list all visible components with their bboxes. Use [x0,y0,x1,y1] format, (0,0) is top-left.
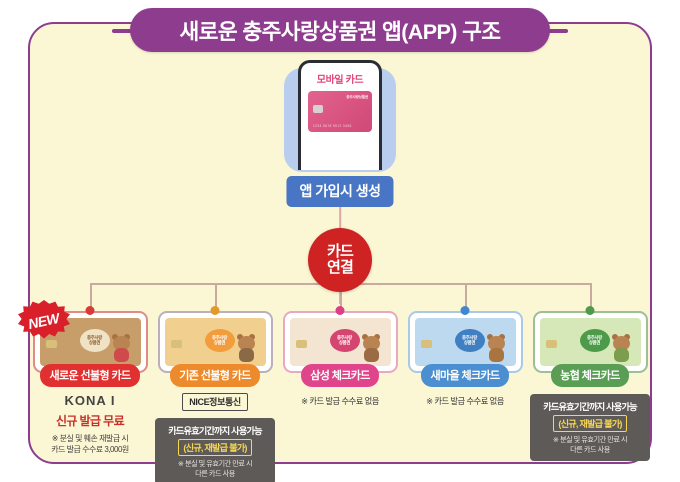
card-artwork: 충주사랑 상품권 [415,318,516,366]
card-type-label: 삼성 체크카드 [301,364,379,387]
new-badge-text: NEW [27,310,61,332]
hub-label-line1: 카드 [327,244,353,260]
card-art-badge: 충주사랑 상품권 [80,329,110,352]
validity-notice-line1: 카드유효기간까지 사용가능 [533,399,647,413]
validity-notice-box: 카드유효기간까지 사용가능(신규, 재발급 불가)※ 분실 및 유효기간 만료 … [530,394,650,461]
card-column-3[interactable]: 충주사랑 상품권삼성 체크카드※ 카드 발급 수수료 없음 [280,311,400,407]
validity-notice-box: 카드유효기간까지 사용가능(신규, 재발급 불가)※ 분실 및 유효기간 만료 … [155,418,275,482]
mobile-card-block: 모바일 카드 충주사랑상품권 1234 5678 9012 3456 [280,60,400,170]
card-issuer-brand: KONA I [64,393,115,408]
card-chip-icon [546,340,557,348]
validity-notice-line3: ※ 분실 및 유효기간 만료 시 다른 카드 사용 [158,459,272,479]
card-chip-icon [296,340,307,348]
validity-notice-line1: 카드유효기간까지 사용가능 [158,423,272,437]
mascot-bear-icon [485,334,511,364]
node-dot-1 [86,306,95,315]
phone-mockup: 모바일 카드 충주사랑상품권 1234 5678 9012 3456 [298,60,382,170]
card-fee-note: ※ 카드 발급 수수료 없음 [426,395,504,407]
card-chip-icon [46,340,57,348]
card-issuer-brand: NICE정보통신 [182,393,247,411]
card-column-5[interactable]: 충주사랑 상품권농협 체크카드카드유효기간까지 사용가능(신규, 재발급 불가)… [530,311,650,461]
validity-notice-line2: (신규, 재발급 불가) [553,415,626,432]
card-chip-icon [171,340,182,348]
node-dot-3 [336,306,345,315]
mascot-bear-icon [110,334,136,364]
card-art-badge: 충주사랑 상품권 [205,329,235,352]
mascot-bear-icon [610,334,636,364]
phone-screen-title: 모바일 카드 [301,71,379,86]
card-column-4[interactable]: 충주사랑 상품권새마을 체크카드※ 카드 발급 수수료 없음 [405,311,525,407]
mascot-bear-icon [235,334,261,364]
card-chip-icon [421,340,432,348]
hub-label-line2: 연결 [327,260,353,276]
card-chip-icon [313,105,323,113]
card-link-hub: 카드 연결 [308,228,372,292]
card-fee-note: ※ 카드 발급 수수료 없음 [301,395,379,407]
card-type-label: 새마을 체크카드 [421,364,508,387]
page-title: 새로운 충주사랑상품권 앱(APP) 구조 [130,8,550,52]
card-column-2[interactable]: 충주사랑 상품권기존 선불형 카드NICE정보통신카드유효기간까지 사용가능(신… [155,311,275,482]
title-wing-right [548,29,568,33]
app-signup-badge: 앱 가입시 생성 [286,176,393,207]
validity-notice-line3: ※ 분실 및 유효기간 만료 시 다른 카드 사용 [533,435,647,455]
node-dot-2 [211,306,220,315]
card-type-label: 농협 체크카드 [551,364,629,387]
node-dot-5 [586,306,595,315]
mobile-card-art: 충주사랑상품권 1234 5678 9012 3456 [308,91,372,132]
card-artwork: 충주사랑 상품권 [290,318,391,366]
node-dot-4 [461,306,470,315]
page-title-text: 새로운 충주사랑상품권 앱(APP) 구조 [180,15,501,46]
card-art-badge: 충주사랑 상품권 [580,329,610,352]
mobile-card-digits: 1234 5678 9012 3456 [313,124,352,128]
card-artwork: 충주사랑 상품권 [165,318,266,366]
mascot-bear-icon [360,334,386,364]
card-footnote: ※ 분실 및 훼손 재발급 시 카드 발급 수수료 3,000원 [51,434,129,456]
infographic-root: 새로운 충주사랑상품권 앱(APP) 구조 모바일 카드 충주사랑상품권 123… [0,0,680,482]
title-wing-left [112,29,132,33]
card-type-label: 새로운 선불형 카드 [40,364,139,387]
mobile-card-brand: 충주사랑상품권 [346,95,368,100]
card-art-badge: 충주사랑 상품권 [330,329,360,352]
validity-notice-line2: (신규, 재발급 불가) [178,439,251,456]
card-type-label: 기존 선불형 카드 [170,364,260,387]
card-art-badge: 충주사랑 상품권 [455,329,485,352]
card-fee-highlight: 신규 발급 무료 [56,412,124,429]
card-artwork: 충주사랑 상품권 [540,318,641,366]
